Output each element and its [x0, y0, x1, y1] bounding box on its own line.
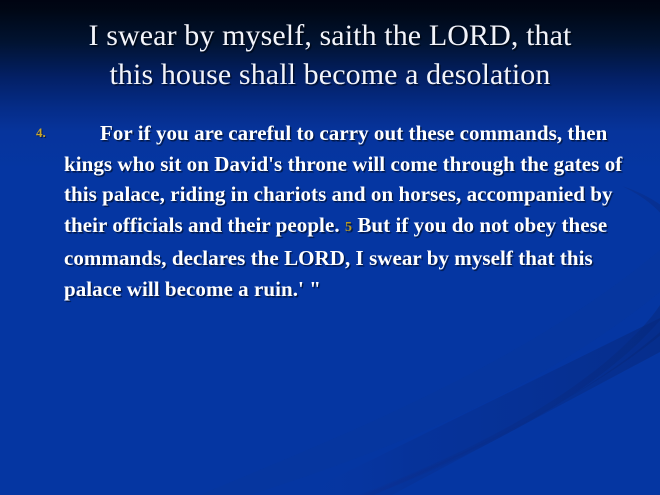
bullet-number: 4. [28, 118, 64, 148]
slide-body: 4. For if you are careful to carry out t… [28, 118, 636, 304]
verse-marker: 5 [345, 220, 352, 235]
presentation-slide: I swear by myself, saith the LORD, that … [0, 0, 660, 495]
slide-title-line-2: this house shall become a desolation [14, 55, 646, 94]
slide-title: I swear by myself, saith the LORD, that … [0, 16, 660, 94]
scripture-paragraph: For if you are careful to carry out thes… [64, 118, 636, 304]
slide-title-line-1: I swear by myself, saith the LORD, that [14, 16, 646, 55]
